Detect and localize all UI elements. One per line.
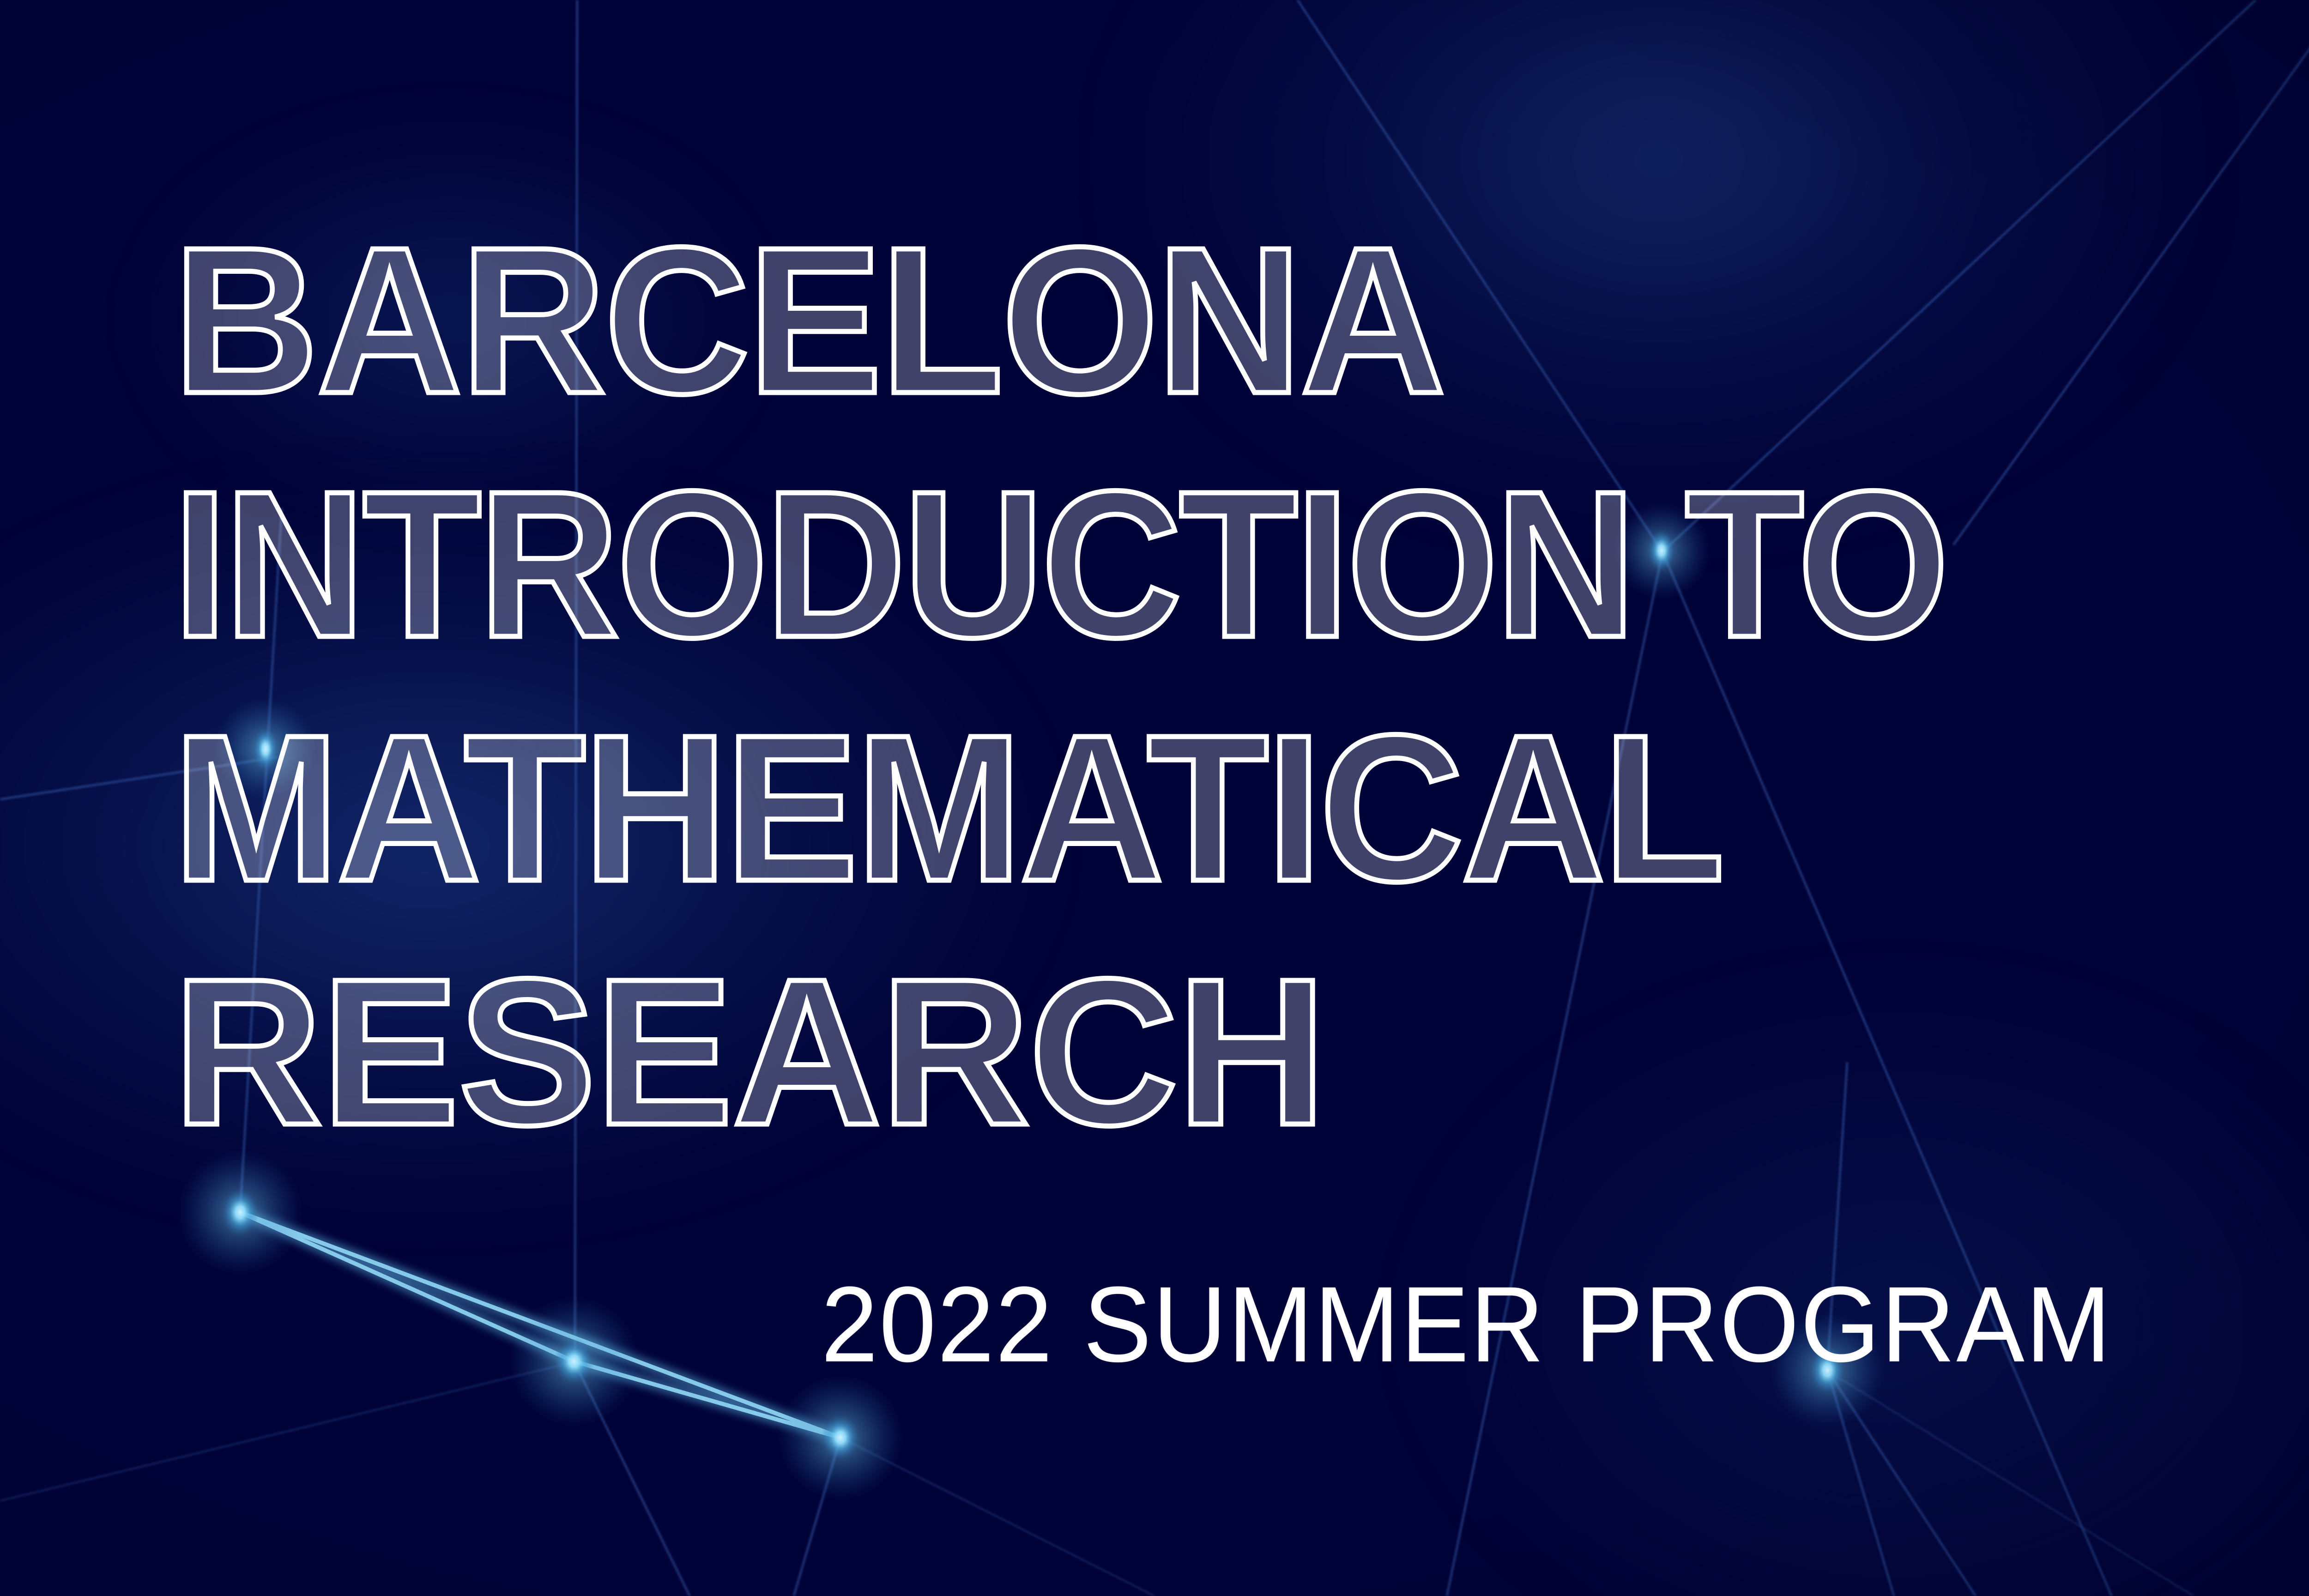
title-line-4: RESEARCH [173, 930, 2309, 1174]
title-line-3: MATHEMATICAL [173, 686, 2246, 930]
title-line-1: BARCELONA [173, 199, 2268, 442]
page-title: BARCELONA INTRODUCTION TO MATHEMATICAL R… [173, 199, 2309, 1174]
subtitle: 2022 SUMMER PROGRAM [821, 1271, 2112, 1378]
title-line-2: INTRODUCTION TO [173, 442, 2196, 686]
poster-canvas: BARCELONA INTRODUCTION TO MATHEMATICAL R… [0, 0, 2309, 1596]
